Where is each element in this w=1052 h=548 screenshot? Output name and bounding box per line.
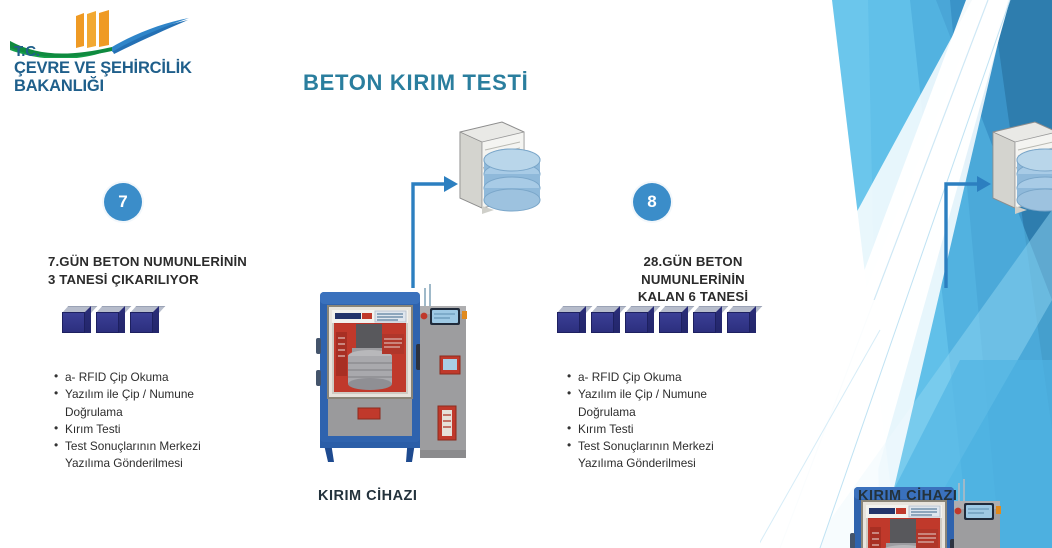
ministry-logo: T.C. ÇEVRE VE ŞEHİRCİLİK BAKANLIĞI (8, 6, 193, 106)
machine-caption-1: KIRIM CİHAZI (318, 488, 417, 504)
sample-cubes-group-1 (62, 306, 159, 333)
step-heading-1: 7.GÜN BETON NUMUNLERİNİN 3 TANESİ ÇIKARI… (48, 253, 298, 288)
sample-cube (625, 306, 654, 333)
sample-cube (693, 306, 722, 333)
step-heading-1-line-2: 3 TANESİ ÇIKARILIYOR (48, 271, 298, 289)
logo-line-1: T.C. (14, 44, 194, 60)
sample-cubes-group-2 (557, 306, 756, 333)
data-upload-arrow-icon (937, 172, 993, 288)
step-heading-2-line-3: KALAN 6 TANESİ (578, 288, 808, 306)
sample-cube (62, 306, 91, 333)
step-badge-1: 7 (104, 183, 142, 221)
sample-cube (659, 306, 688, 333)
concrete-crushing-machine-icon (846, 473, 1006, 548)
step-heading-2: 28.GÜN BETON NUMUNLERİNİN KALAN 6 TANESİ (578, 253, 808, 306)
logo-text-block: T.C. ÇEVRE VE ŞEHİRCİLİK BAKANLIĞI (14, 44, 194, 96)
list-item-continuation: Doğrulama (565, 404, 815, 421)
step-heading-2-line-1: 28.GÜN BETON (578, 253, 808, 271)
sample-cube (96, 306, 125, 333)
concrete-crushing-machine-icon (312, 278, 472, 468)
list-item: Test Sonuçlarının Merkezi (565, 438, 815, 455)
list-item: Kırım Testi (565, 421, 815, 438)
sample-cube (727, 306, 756, 333)
sample-cube (557, 306, 586, 333)
list-item: Yazılım ile Çip / Numune (565, 386, 815, 403)
step-badge-2-wrap: 8 (633, 183, 671, 221)
list-item: Yazılım ile Çip / Numune (52, 386, 302, 403)
list-item-continuation: Doğrulama (52, 404, 302, 421)
server-database-2 (983, 118, 1052, 221)
step-badge-1-wrap: 7 (104, 183, 142, 221)
step-heading-2-line-2: NUMUNLERİNİN (578, 271, 808, 289)
list-item-continuation: Yazılıma Gönderilmesi (52, 455, 302, 472)
step-bullets-2: a- RFID Çip Okuma Yazılım ile Çip / Numu… (565, 369, 815, 473)
server-database-1 (450, 118, 542, 221)
server-database-icon (450, 118, 542, 216)
data-upload-arrow-2 (937, 172, 993, 293)
list-item-continuation: Yazılıma Gönderilmesi (565, 455, 815, 472)
step-badge-2: 8 (633, 183, 671, 221)
list-item: a- RFID Çip Okuma (565, 369, 815, 386)
step-bullets-1: a- RFID Çip Okuma Yazılım ile Çip / Numu… (52, 369, 302, 473)
page-title: BETON KIRIM TESTİ (303, 70, 528, 96)
list-item: Test Sonuçlarının Merkezi (52, 438, 302, 455)
server-database-icon (983, 118, 1052, 216)
step-heading-1-line-1: 7.GÜN BETON NUMUNLERİNİN (48, 253, 298, 271)
logo-line-2: ÇEVRE VE ŞEHİRCİLİK (14, 60, 194, 78)
sample-cube (130, 306, 159, 333)
list-item: a- RFID Çip Okuma (52, 369, 302, 386)
logo-line-3: BAKANLIĞI (14, 78, 194, 96)
data-upload-arrow-1 (404, 172, 460, 293)
sample-cube (591, 306, 620, 333)
data-upload-arrow-icon (404, 172, 460, 288)
slide-canvas: T.C. ÇEVRE VE ŞEHİRCİLİK BAKANLIĞI BETON… (0, 0, 1052, 548)
list-item: Kırım Testi (52, 421, 302, 438)
machine-caption-2: KIRIM CİHAZI (858, 488, 957, 504)
crushing-machine-2 (846, 473, 1052, 548)
